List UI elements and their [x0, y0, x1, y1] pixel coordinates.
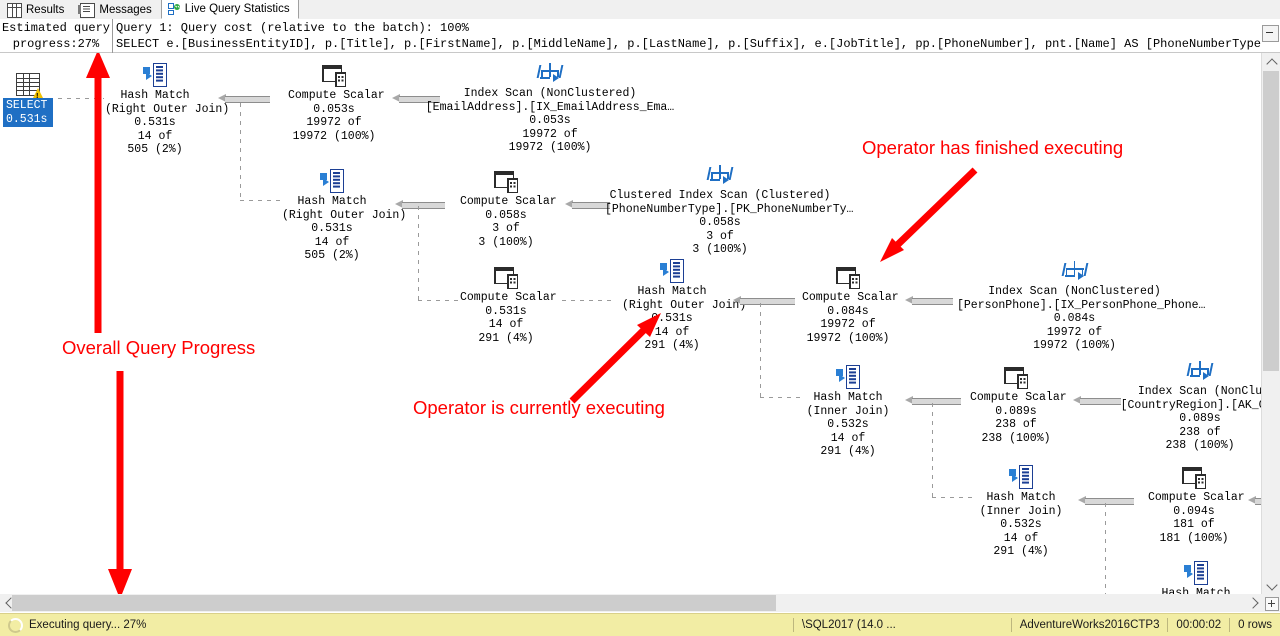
scroll-right-button[interactable]	[1245, 594, 1262, 612]
connector-pending	[760, 303, 761, 398]
plan-node-index-scan-emailaddress[interactable]: Index Scan (NonClustered) [EmailAddress]…	[415, 61, 685, 155]
op-line: 181 (100%)	[1148, 532, 1240, 546]
op-line: 0.089s	[1110, 412, 1262, 426]
connector-pending	[760, 397, 802, 398]
plan-vertical-scrollbar[interactable]	[1261, 53, 1280, 594]
scroll-down-button[interactable]	[1262, 577, 1280, 594]
compute-scalar-icon	[494, 169, 518, 193]
vertical-scroll-thumb[interactable]	[1263, 71, 1279, 371]
op-line: 14 of	[460, 318, 552, 332]
annotation-arrow-progress-up	[80, 53, 116, 338]
op-line: Hash Match	[622, 285, 722, 299]
status-row-count: 0 rows	[1230, 614, 1280, 636]
op-line: 0.053s	[288, 103, 380, 117]
status-server: \SQL2017 (14.0 ...	[794, 614, 1011, 636]
op-line: Compute Scalar	[288, 89, 380, 103]
op-line: Clustered Index Scan (Clustered)	[605, 189, 835, 203]
op-line: 19972 of	[415, 128, 685, 142]
plan-node-compute-scalar-3[interactable]: Compute Scalar 0.531s 14 of 291 (4%)	[460, 265, 552, 345]
zoom-plus-icon	[1265, 597, 1279, 611]
op-line: 181 of	[1148, 518, 1240, 532]
hash-match-icon	[836, 365, 860, 389]
horizontal-scroll-thumb[interactable]	[12, 595, 776, 611]
op-line: 19972 (100%)	[415, 141, 685, 155]
op-line: 3 (100%)	[460, 236, 552, 250]
tab-results-label: Results	[26, 4, 64, 16]
plan-node-hash-match-5[interactable]: Hash Match (Inner Join) 0.532s 14 of 291…	[975, 465, 1067, 559]
connector-arrow	[395, 200, 445, 209]
op-line: 14 of	[975, 532, 1067, 546]
op-line: 19972 (100%)	[288, 130, 380, 144]
hash-match-icon	[1009, 465, 1033, 489]
select-node-label: SELECT	[6, 99, 47, 112]
tab-messages[interactable]: Messages	[73, 0, 160, 19]
op-line: 291 (4%)	[460, 332, 552, 346]
op-line: 14 of	[282, 236, 382, 250]
op-line: (Inner Join)	[802, 405, 894, 419]
op-line: 238 (100%)	[1110, 439, 1262, 453]
query-header: Estimated query progress:27% Query 1: Qu…	[0, 19, 1280, 53]
scrollbar-corner-zoom-button[interactable]	[1262, 594, 1280, 612]
op-line: 0.089s	[970, 405, 1062, 419]
query-sql-line: SELECT e.[BusinessEntityID], p.[Title], …	[116, 36, 1262, 52]
op-line: [EmailAddress].[IX_EmailAddress_Ema…	[415, 101, 685, 115]
scroll-up-button[interactable]	[1262, 53, 1280, 70]
query-cost-line: Query 1: Query cost (relative to the bat…	[116, 20, 1262, 36]
op-line: Hash Match	[802, 391, 894, 405]
connector-pending	[932, 403, 933, 498]
status-execution: Executing query... 27%	[0, 614, 793, 636]
query-header-collapse-button[interactable]	[1262, 25, 1279, 42]
select-node-box: SELECT 0.531s	[3, 98, 53, 127]
plan-node-hash-match-1[interactable]: Hash Match (Right Outer Join) 0.531s 14 …	[105, 63, 205, 157]
status-bar: Executing query... 27% \SQL2017 (14.0 ..…	[0, 613, 1280, 636]
op-line: Index Scan (NonClustered)	[415, 87, 685, 101]
op-line: 3 (100%)	[605, 243, 835, 257]
compute-scalar-icon	[322, 63, 346, 87]
op-line: [PersonPhone].[IX_PersonPhone_Phone…	[957, 299, 1192, 313]
live-query-statistics-icon	[168, 2, 181, 15]
op-line: 505 (2%)	[105, 143, 205, 157]
result-grid-icon	[16, 73, 40, 96]
op-line: Index Scan (NonClu	[1110, 385, 1262, 399]
op-line: 19972 of	[957, 326, 1192, 340]
tab-messages-label: Messages	[99, 4, 151, 16]
op-line: 14 of	[105, 130, 205, 144]
annotation-overall-query-progress: Overall Query Progress	[62, 337, 255, 359]
op-line: 19972 of	[288, 116, 380, 130]
tab-live-query-statistics-label: Live Query Statistics	[185, 3, 290, 15]
op-line: (Inner Join)	[975, 505, 1067, 519]
grid-icon	[7, 3, 22, 18]
op-line: 0.531s	[282, 222, 382, 236]
op-line: 19972 (100%)	[802, 332, 894, 346]
op-line: 0.532s	[975, 518, 1067, 532]
index-scan-icon	[708, 163, 732, 187]
plan-node-hash-match-4[interactable]: Hash Match (Inner Join) 0.532s 14 of 291…	[802, 365, 894, 459]
connector-arrow	[733, 296, 795, 305]
plan-node-compute-scalar-5[interactable]: Compute Scalar 0.089s 238 of 238 (100%)	[970, 365, 1062, 445]
connector-arrow	[905, 396, 961, 405]
connector-pending	[1105, 503, 1106, 594]
chevron-down-icon	[1266, 579, 1277, 590]
op-line: 238 of	[970, 418, 1062, 432]
plan-node-clustered-index-scan-phonenumbertype[interactable]: Clustered Index Scan (Clustered) [PhoneN…	[605, 163, 835, 257]
connector-pending	[418, 300, 460, 301]
op-line: 19972 of	[802, 318, 894, 332]
warning-icon	[33, 88, 43, 98]
loading-spinner-icon	[8, 618, 23, 633]
index-scan-icon	[1063, 259, 1087, 283]
op-line: Hash Match	[282, 195, 382, 209]
select-node-cost: 0.531s	[6, 113, 47, 126]
op-line: 238 (100%)	[970, 432, 1062, 446]
hash-match-icon	[660, 259, 684, 283]
chevron-right-icon	[1247, 597, 1258, 608]
op-line: Compute Scalar	[970, 391, 1062, 405]
index-scan-icon	[538, 61, 562, 85]
estimated-progress-line2: progress:27%	[13, 37, 99, 51]
op-line: 0.058s	[460, 209, 552, 223]
op-line: 0.053s	[415, 114, 685, 128]
connector-arrow	[565, 200, 610, 209]
compute-scalar-icon	[1182, 465, 1206, 489]
connector-pending	[240, 103, 241, 201]
op-line: Hash Match	[105, 89, 205, 103]
hash-match-icon	[143, 63, 167, 87]
messages-icon	[80, 3, 95, 18]
op-line: Compute Scalar	[460, 291, 552, 305]
op-line: 291 (4%)	[802, 445, 894, 459]
query-cost-and-sql: Query 1: Query cost (relative to the bat…	[116, 19, 1262, 53]
op-line: 0.084s	[957, 312, 1192, 326]
op-line: Index Scan (NonClustered)	[957, 285, 1192, 299]
op-line: 14 of	[802, 432, 894, 446]
plan-node-compute-scalar-6[interactable]: Compute Scalar 0.094s 181 of 181 (100%)	[1148, 465, 1240, 545]
compute-scalar-icon	[1004, 365, 1028, 389]
op-line: 3 of	[460, 222, 552, 236]
connector-pending	[240, 200, 282, 201]
op-line: 0.532s	[802, 418, 894, 432]
op-line: 0.531s	[105, 116, 205, 130]
tab-results[interactable]: Results	[0, 0, 73, 19]
connector-pending	[932, 497, 974, 498]
op-line: Compute Scalar	[460, 195, 552, 209]
op-line: (Right Outer Join)	[105, 103, 205, 117]
op-line: 0.531s	[460, 305, 552, 319]
op-line: Hash Match	[975, 491, 1067, 505]
op-line: 0.058s	[605, 216, 835, 230]
status-elapsed-time: 00:00:02	[1168, 614, 1229, 636]
annotation-operator-finished: Operator has finished executing	[862, 137, 1123, 159]
execution-plan-canvas[interactable]: SELECT 0.531s Hash Match (Right Outer Jo…	[0, 53, 1262, 594]
compute-scalar-icon	[494, 265, 518, 289]
status-execution-text: Executing query... 27%	[29, 619, 146, 631]
op-line: [CountryRegion].[AK_Cou	[1110, 399, 1262, 413]
plan-node-compute-scalar-1[interactable]: Compute Scalar 0.053s 19972 of 19972 (10…	[288, 63, 380, 143]
annotation-arrow-executing	[558, 301, 688, 411]
op-line: Compute Scalar	[1148, 491, 1240, 505]
index-scan-icon	[1188, 359, 1212, 383]
op-line: 3 of	[605, 230, 835, 244]
results-tab-strip: Results Messages Live Query Statistics	[0, 0, 1280, 20]
op-line: 0.084s	[802, 305, 894, 319]
annotation-arrow-finished	[850, 158, 990, 298]
plan-node-hash-match-6[interactable]: Hash Match	[1150, 561, 1242, 594]
connector-pending	[418, 206, 419, 301]
connector-arrow	[1248, 496, 1262, 505]
estimated-progress-line1: Estimated query	[2, 21, 110, 35]
status-database: AdventureWorks2016CTP3	[1012, 614, 1168, 636]
op-line: (Right Outer Join)	[282, 209, 382, 223]
op-line: [PhoneNumberType].[PK_PhoneNumberTy…	[605, 203, 835, 217]
plan-node-index-scan-personphone[interactable]: Index Scan (NonClustered) [PersonPhone].…	[957, 259, 1192, 353]
op-line: 19972 (100%)	[957, 339, 1192, 353]
plan-node-hash-match-2[interactable]: Hash Match (Right Outer Join) 0.531s 14 …	[282, 169, 382, 263]
op-line: 291 (4%)	[975, 545, 1067, 559]
estimated-query-progress: Estimated query progress:27%	[0, 19, 113, 53]
op-line: Hash Match	[1150, 587, 1242, 594]
tab-live-query-statistics[interactable]: Live Query Statistics	[161, 0, 299, 19]
plan-node-compute-scalar-2[interactable]: Compute Scalar 0.058s 3 of 3 (100%)	[460, 169, 552, 249]
op-line: 505 (2%)	[282, 249, 382, 263]
connector-arrow	[1078, 496, 1134, 505]
annotation-arrow-progress-down	[102, 371, 138, 594]
op-line: 238 of	[1110, 426, 1262, 440]
connector-arrow	[218, 94, 270, 103]
hash-match-icon	[1184, 561, 1208, 585]
chevron-up-icon	[1266, 58, 1277, 69]
op-line: 0.094s	[1148, 505, 1240, 519]
hash-match-icon	[320, 169, 344, 193]
plan-node-select[interactable]: SELECT 0.531s	[3, 73, 53, 127]
plan-node-index-scan-countryregion[interactable]: Index Scan (NonClu [CountryRegion].[AK_C…	[1110, 359, 1262, 453]
plan-horizontal-scrollbar[interactable]	[0, 594, 1262, 612]
